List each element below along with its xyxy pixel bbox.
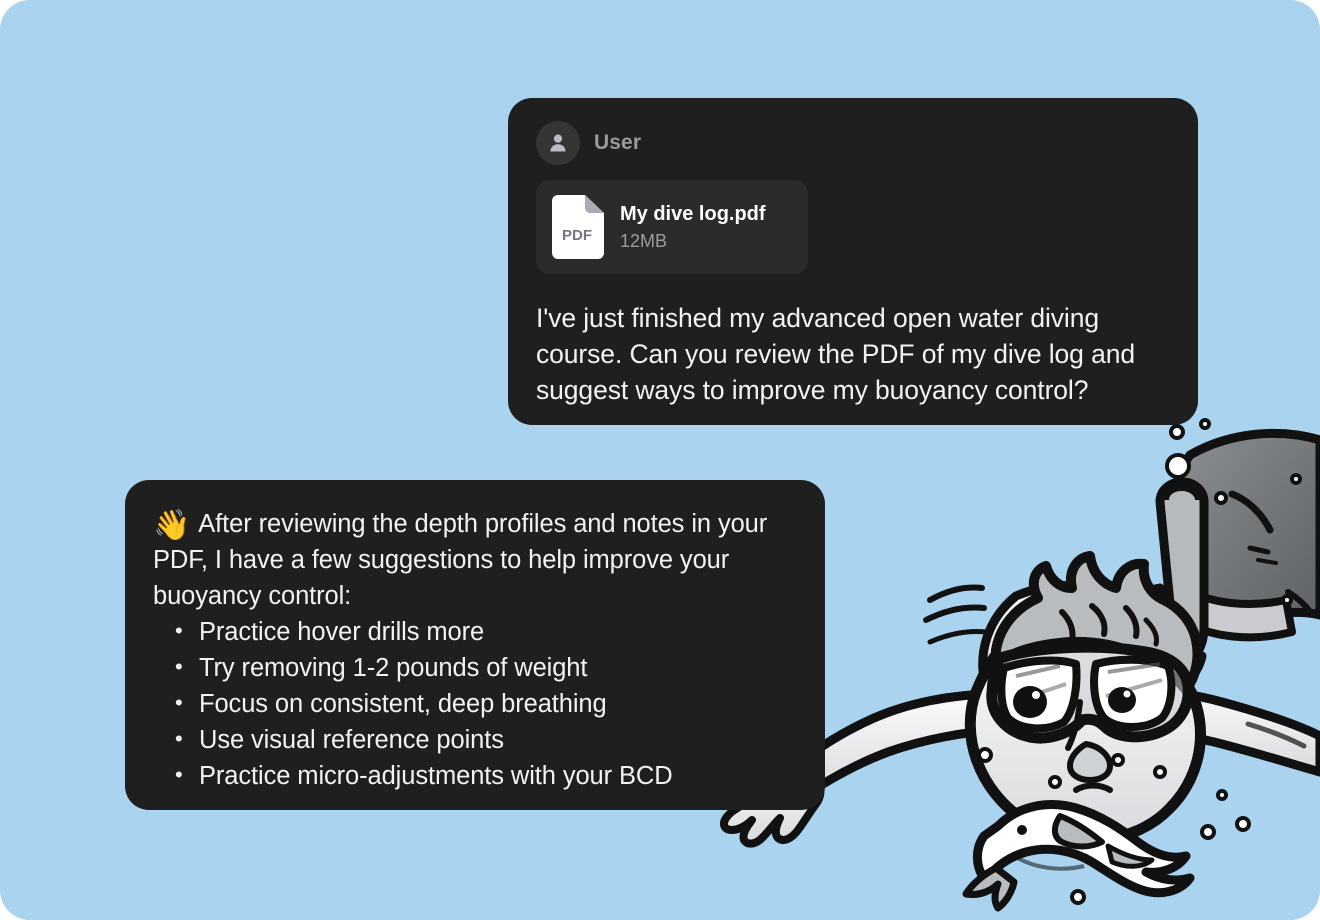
attachment-meta: My dive log.pdf 12MB	[620, 203, 766, 252]
list-item: Use visual reference points	[199, 722, 795, 758]
user-message-bubble: User PDF My dive log.pdf 12MB I've just …	[508, 98, 1198, 425]
user-header: User	[536, 120, 1170, 166]
app-canvas: User PDF My dive log.pdf 12MB I've just …	[0, 0, 1320, 920]
svg-text:PDF: PDF	[562, 227, 592, 244]
pdf-file-icon: PDF	[552, 195, 604, 259]
list-item: Practice hover drills more	[199, 614, 795, 650]
sender-label: User	[594, 131, 641, 155]
avatar	[536, 121, 580, 165]
chat-layer: User PDF My dive log.pdf 12MB I've just …	[0, 0, 1320, 920]
attachment-filesize: 12MB	[620, 231, 766, 252]
list-item: Focus on consistent, deep breathing	[199, 686, 795, 722]
attachment-card[interactable]: PDF My dive log.pdf 12MB	[536, 180, 808, 274]
waving-hand-emoji: 👋	[153, 509, 190, 542]
list-item: Practice micro-adjustments with your BCD	[199, 758, 795, 794]
suggestion-list: Practice hover drills more Try removing …	[153, 614, 795, 794]
assistant-message-bubble: 👋After reviewing the depth profiles and …	[125, 480, 825, 810]
person-icon	[546, 131, 570, 155]
list-item: Try removing 1-2 pounds of weight	[199, 650, 795, 686]
attachment-filename: My dive log.pdf	[620, 203, 766, 226]
assistant-intro-paragraph: 👋After reviewing the depth profiles and …	[153, 506, 795, 614]
user-message-text: I've just finished my advanced open wate…	[536, 300, 1170, 408]
assistant-intro-text: After reviewing the depth profiles and n…	[153, 510, 767, 610]
